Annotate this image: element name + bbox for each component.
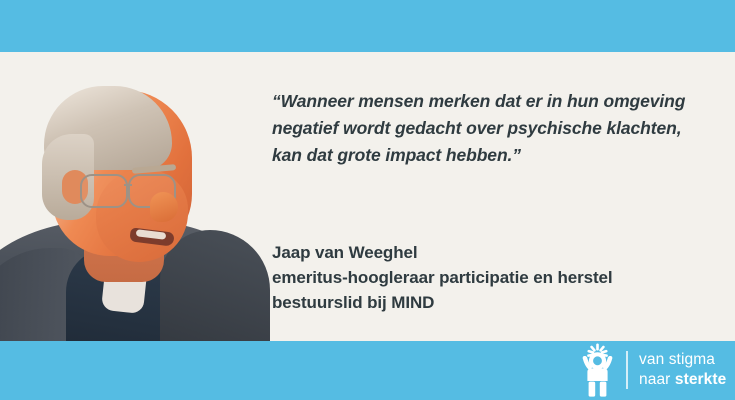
quote-line-2: negatief wordt gedacht over psychische k… — [272, 115, 702, 142]
logo-line-1: van stigma — [639, 350, 726, 370]
attribution-affiliation: bestuurslid bij MIND — [272, 290, 702, 315]
glasses-bridge — [124, 184, 132, 186]
quote-line-1: “Wanneer mensen merken dat er in hun omg… — [272, 88, 702, 115]
attribution-name: Jaap van Weeghel — [272, 240, 702, 265]
jacket-right-lapel — [160, 230, 270, 341]
attribution-role: emeritus-hoogleraar participatie en hers… — [272, 265, 702, 290]
logo-line-2-bold: sterkte — [675, 371, 727, 388]
attribution-block: Jaap van Weeghel emeritus-hoogleraar par… — [272, 240, 702, 315]
brand-logo: van stigma naar sterkte — [572, 340, 735, 400]
top-blue-band — [0, 0, 735, 52]
logo-line-2: naar sterkte — [639, 370, 726, 390]
portrait-photo — [0, 52, 270, 341]
person-with-raised-arms-icon — [572, 343, 622, 397]
quote-line-3: kan dat grote impact hebben.” — [272, 142, 702, 169]
logo-divider — [626, 351, 628, 389]
glasses-left-lens — [80, 174, 128, 208]
quote-card: “Wanneer mensen merken dat er in hun omg… — [0, 0, 735, 400]
quote-text: “Wanneer mensen merken dat er in hun omg… — [272, 88, 702, 169]
logo-wordmark: van stigma naar sterkte — [639, 350, 726, 390]
logo-line-2-regular: naar — [639, 371, 675, 388]
